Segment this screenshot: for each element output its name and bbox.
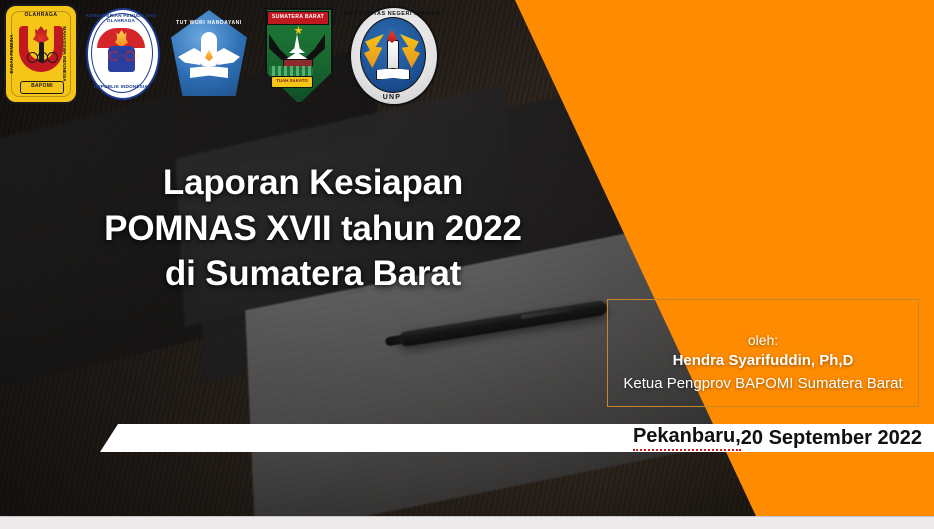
speaker-role: Ketua Pengprov BAPOMI Sumatera Barat bbox=[623, 373, 902, 395]
unp-bottom-text: UNP bbox=[343, 94, 441, 101]
speaker-prefix: oleh: bbox=[748, 330, 778, 350]
bapomi-ribbon-text: BAPOMI bbox=[20, 81, 64, 94]
slide-title: Laporan Kesiapan POMNAS XVII tahun 2022 … bbox=[48, 160, 578, 297]
speaker-box: oleh: Hendra Syarifuddin, Ph,D Ketua Pen… bbox=[607, 299, 919, 407]
kemenpora-bottom-text: REPUBLIK INDONESIA bbox=[82, 84, 160, 89]
kemenpora-rings-icon bbox=[109, 51, 134, 59]
footer-date-text: 20 September 2022 bbox=[741, 427, 922, 450]
bapomi-left-text: BADAN PEMBINA bbox=[9, 34, 14, 73]
logo-bar: OLAHRAGA BADAN PEMBINA MAHASISWA INDONES… bbox=[0, 0, 934, 112]
kemenpora-logo: KEMENTERIAN PEMUDA DAN OLAHRAGA REPUBLIK… bbox=[82, 4, 160, 100]
sumbar-banner-text: SUMATERA BARAT bbox=[267, 11, 329, 25]
sumbar-water-icon bbox=[269, 66, 313, 76]
universitas-negeri-padang-logo: UNIVERSITAS NEGERI PADANG UNP bbox=[343, 4, 441, 106]
bapomi-top-text: OLAHRAGA bbox=[6, 12, 76, 18]
tutwuri-arc-text: TUT WURI HANDAYANI bbox=[166, 20, 252, 26]
unp-torch-icon bbox=[387, 40, 399, 72]
footer-place: Pekanbaru, bbox=[633, 425, 741, 451]
title-line-1: Laporan Kesiapan bbox=[48, 160, 578, 206]
sumbar-motto-text: TUAH SAKATO bbox=[271, 76, 313, 88]
bapomi-rings-icon bbox=[27, 52, 56, 61]
sumbar-rumah-gadang-icon bbox=[281, 34, 313, 64]
unp-top-text: UNIVERSITAS NEGERI PADANG bbox=[343, 11, 441, 17]
footer-date: Pekanbaru, 20 September 2022 bbox=[633, 424, 922, 452]
tut-wuri-handayani-logo: TUT WURI HANDAYANI bbox=[166, 4, 252, 102]
title-line-2: POMNAS XVII tahun 2022 bbox=[48, 206, 578, 252]
title-line-3: di Sumatera Barat bbox=[48, 251, 578, 297]
sumatera-barat-logo: SUMATERA BARAT TUAH SAKATO bbox=[259, 4, 335, 104]
bapomi-logo: OLAHRAGA BADAN PEMBINA MAHASISWA INDONES… bbox=[4, 4, 78, 104]
kemenpora-top-text: KEMENTERIAN PEMUDA DAN OLAHRAGA bbox=[82, 13, 160, 23]
presentation-slide: OLAHRAGA BADAN PEMBINA MAHASISWA INDONES… bbox=[0, 0, 934, 529]
speaker-name: Hendra Syarifuddin, Ph,D bbox=[673, 350, 854, 373]
editor-bottom-chrome bbox=[0, 516, 934, 529]
